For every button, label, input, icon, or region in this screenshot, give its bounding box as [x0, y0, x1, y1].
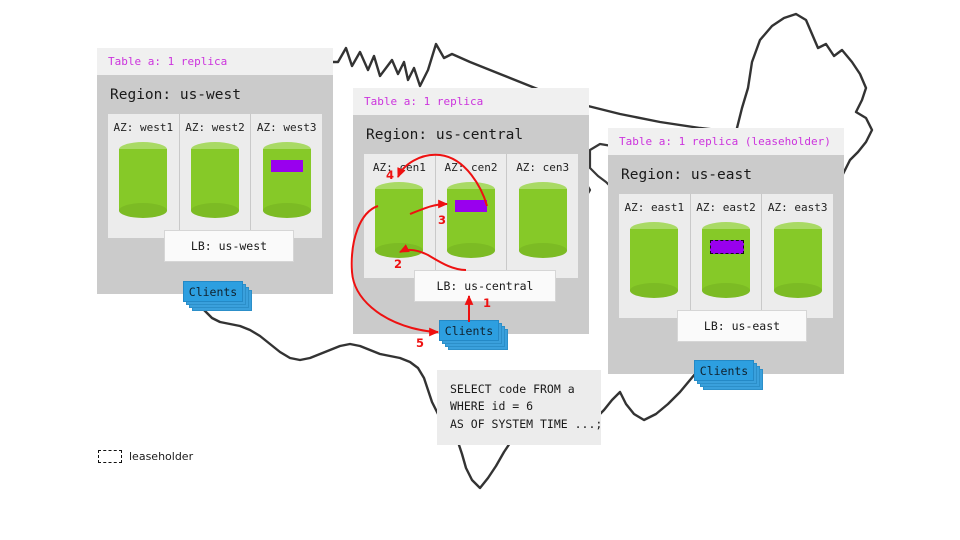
clients-label-us-central: Clients — [439, 320, 499, 341]
az-east3[interactable]: AZ: east3 — [761, 194, 833, 318]
region-title-us-west: Region: us-west — [110, 87, 322, 103]
node-cylinder-cen3[interactable] — [519, 182, 567, 258]
clients-stack-us-central[interactable]: Clients — [439, 320, 503, 348]
node-cylinder-east3[interactable] — [774, 222, 822, 298]
node-cylinder-cen2[interactable] — [447, 182, 495, 258]
az-label-east2: AZ: east2 — [696, 201, 756, 214]
az-cen3[interactable]: AZ: cen3 — [506, 154, 578, 278]
region-panel-us-central: Table a: 1 replica Region: us-central AZ… — [353, 88, 589, 334]
az-strip-us-east: AZ: east1 AZ: east2 — [619, 194, 833, 318]
clients-stack-us-west[interactable]: Clients — [183, 281, 247, 309]
diagram-canvas: Table a: 1 replica Region: us-west AZ: w… — [0, 0, 960, 540]
region-header-us-central: Table a: 1 replica — [353, 88, 589, 115]
legend: leaseholder — [98, 450, 193, 463]
az-label-east3: AZ: east3 — [768, 201, 828, 214]
az-west2[interactable]: AZ: west2 — [179, 114, 251, 238]
az-label-west1: AZ: west1 — [114, 121, 174, 134]
az-label-east1: AZ: east1 — [625, 201, 685, 214]
az-west1[interactable]: AZ: west1 — [108, 114, 179, 238]
region-title-us-central: Region: us-central — [366, 127, 578, 143]
arrow-label-1: 1 — [483, 296, 491, 310]
sql-query-box: SELECT code FROM a WHERE id = 6 AS OF SY… — [437, 370, 601, 445]
region-panel-us-east: Table a: 1 replica (leaseholder) Region:… — [608, 128, 844, 374]
node-cylinder-west1[interactable] — [119, 142, 167, 218]
node-cylinder-west3[interactable] — [263, 142, 311, 218]
clients-label-us-west: Clients — [183, 281, 243, 302]
node-cylinder-cen1[interactable] — [375, 182, 423, 258]
arrow-label-3: 3 — [438, 213, 446, 227]
az-east1[interactable]: AZ: east1 — [619, 194, 690, 318]
clients-label-us-east: Clients — [694, 360, 754, 381]
replica-range-cen2 — [455, 200, 487, 212]
region-panel-us-west: Table a: 1 replica Region: us-west AZ: w… — [97, 48, 333, 294]
load-balancer-us-east[interactable]: LB: us-east — [677, 310, 807, 342]
leaseholder-swatch-icon — [98, 450, 122, 463]
region-header-us-east: Table a: 1 replica (leaseholder) — [608, 128, 844, 155]
load-balancer-us-west[interactable]: LB: us-west — [164, 230, 294, 262]
clients-stack-us-east[interactable]: Clients — [694, 360, 758, 388]
leaseholder-range-east2 — [710, 240, 744, 254]
az-label-cen1: AZ: cen1 — [373, 161, 426, 174]
region-header-us-west: Table a: 1 replica — [97, 48, 333, 75]
node-cylinder-west2[interactable] — [191, 142, 239, 218]
az-west3[interactable]: AZ: west3 — [250, 114, 322, 238]
az-label-west2: AZ: west2 — [185, 121, 245, 134]
az-label-west3: AZ: west3 — [257, 121, 317, 134]
replica-range-west3 — [271, 160, 303, 172]
az-strip-us-west: AZ: west1 AZ: west2 — [108, 114, 322, 238]
arrow-label-2: 2 — [394, 257, 402, 271]
legend-label-leaseholder: leaseholder — [129, 450, 193, 463]
arrow-label-5: 5 — [416, 336, 424, 350]
region-title-us-east: Region: us-east — [621, 167, 833, 183]
arrow-label-4: 4 — [386, 168, 394, 182]
node-cylinder-east1[interactable] — [630, 222, 678, 298]
az-label-cen2: AZ: cen2 — [445, 161, 498, 174]
node-cylinder-east2[interactable] — [702, 222, 750, 298]
az-label-cen3: AZ: cen3 — [516, 161, 569, 174]
az-east2[interactable]: AZ: east2 — [690, 194, 762, 318]
